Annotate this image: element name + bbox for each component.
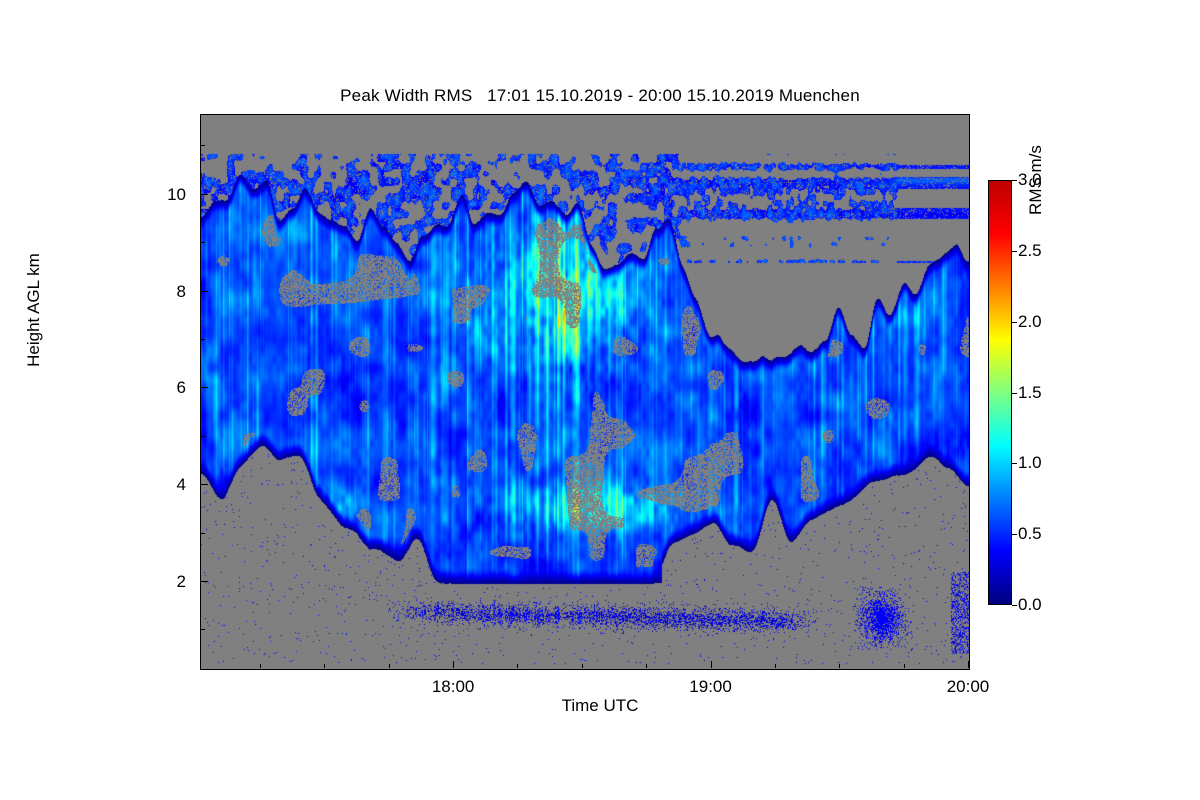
colorbar-tick-mark [1012, 393, 1017, 394]
y-tick-mark [201, 291, 208, 292]
colorbar-tick-mark [1012, 180, 1017, 181]
x-tick-mark [711, 661, 712, 668]
y-minor-tick [201, 533, 205, 534]
figure-canvas: Peak Width RMS 17:01 15.10.2019 - 20:00 … [0, 0, 1200, 800]
colorbar-title: RMS m/s [1026, 60, 1046, 300]
x-minor-tick [582, 664, 583, 668]
colorbar-tick-label: 0.0 [1018, 596, 1042, 613]
colorbar-tick-label: 1.5 [1018, 384, 1042, 401]
y-axis-title: Height AGL km [24, 180, 44, 440]
y-tick-label: 4 [142, 476, 186, 493]
x-minor-tick [904, 664, 905, 668]
page-title: Peak Width RMS 17:01 15.10.2019 - 20:00 … [0, 86, 1200, 106]
colorbar-tick-mark [1012, 322, 1017, 323]
x-tick-label: 20:00 [923, 678, 1013, 695]
y-tick-label: 8 [142, 283, 186, 300]
x-tick-label: 19:00 [666, 678, 756, 695]
x-minor-tick [646, 664, 647, 668]
y-tick-mark [201, 387, 208, 388]
y-minor-tick [201, 629, 205, 630]
colorbar-tick-mark [1012, 463, 1017, 464]
colorbar-tick-mark [1012, 251, 1017, 252]
x-minor-tick [839, 664, 840, 668]
x-minor-tick [324, 664, 325, 668]
x-minor-tick [517, 664, 518, 668]
y-tick-mark [201, 484, 208, 485]
y-minor-tick [201, 242, 205, 243]
heatmap-plot-area[interactable] [200, 114, 970, 670]
x-minor-tick [260, 664, 261, 668]
x-tick-label: 18:00 [408, 678, 498, 695]
colorbar-tick-mark [1012, 534, 1017, 535]
x-axis-title: Time UTC [0, 696, 1200, 716]
y-tick-label: 10 [142, 186, 186, 203]
y-tick-mark [201, 194, 208, 195]
colorbar-tick-label: 0.5 [1018, 525, 1042, 542]
y-minor-tick [201, 339, 205, 340]
colorbar-tick-label: 2.0 [1018, 313, 1042, 330]
y-minor-tick [201, 436, 205, 437]
y-tick-label: 2 [142, 573, 186, 590]
radar-data-field [201, 115, 969, 669]
y-minor-tick [201, 145, 205, 146]
x-tick-mark [968, 661, 969, 668]
colorbar-tick-mark [1012, 605, 1017, 606]
x-tick-mark [453, 661, 454, 668]
colorbar-gradient [988, 180, 1012, 605]
x-minor-tick [389, 664, 390, 668]
x-minor-tick [775, 664, 776, 668]
y-tick-label: 6 [142, 379, 186, 396]
colorbar[interactable] [988, 180, 1012, 605]
y-tick-mark [201, 581, 208, 582]
colorbar-tick-label: 1.0 [1018, 454, 1042, 471]
